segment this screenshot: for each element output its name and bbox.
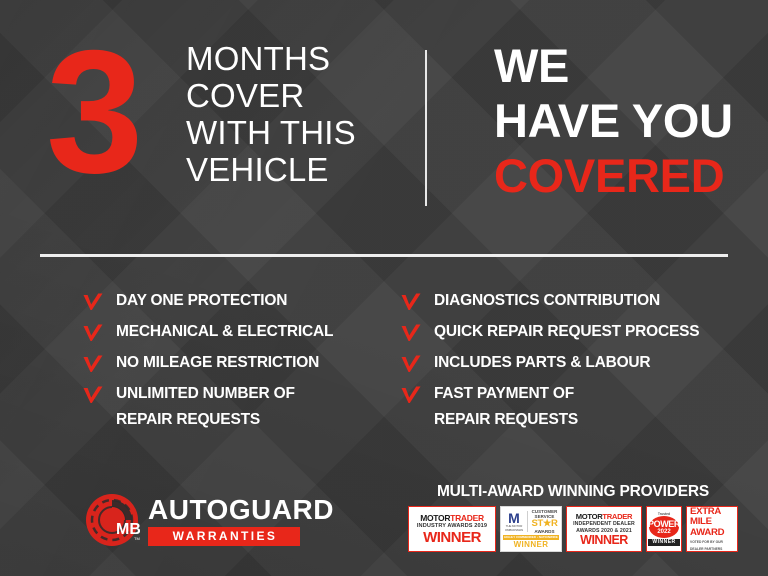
award-badge-motortrader-2019: MOTORTRADER INDUSTRY AWARDS 2019 WINNER xyxy=(408,506,496,552)
award-badge-customer-service-star: M THE MOTOR OMBUDSMAN CUSTOMER SERVICE S… xyxy=(500,506,562,552)
badge-result: WINNER xyxy=(570,534,638,547)
mbi-logo-icon: MBi TM xyxy=(84,492,140,548)
check-icon xyxy=(400,290,422,316)
svg-text:TM: TM xyxy=(134,536,140,541)
section-horizontal-divider xyxy=(40,254,728,257)
badge-brand-motor: MOTOR xyxy=(420,513,450,523)
months-cover-heading: MONTHS COVER WITH THIS VEHICLE xyxy=(186,40,416,188)
check-icon xyxy=(400,352,422,378)
check-icon xyxy=(82,290,104,316)
badge-brand: MOTORTRADER xyxy=(412,514,492,523)
months-heading-line-3: WITH THIS xyxy=(186,114,416,151)
feature-item: DIAGNOSTICS CONTRIBUTION xyxy=(400,288,740,316)
check-icon xyxy=(82,352,104,378)
award-badge-power-2022: Trusted POWER 2022 WINNER xyxy=(646,506,682,552)
tagline-heading: WE HAVE YOU COVERED xyxy=(494,38,754,203)
badge-brand-motor: MOTOR xyxy=(576,512,603,521)
feature-label: FAST PAYMENT OF REPAIR REQUESTS xyxy=(434,381,578,433)
months-heading-line-2: COVER xyxy=(186,77,416,114)
feature-item: FAST PAYMENT OF REPAIR REQUESTS xyxy=(400,381,740,433)
months-heading-line-4: VEHICLE xyxy=(186,151,416,188)
months-heading-line-1: MONTHS xyxy=(186,40,416,77)
check-icon xyxy=(82,321,104,347)
feature-item: QUICK REPAIR REQUEST PROCESS xyxy=(400,319,740,347)
badge-body: M THE MOTOR OMBUDSMAN CUSTOMER SERVICE S… xyxy=(503,509,559,535)
badge-label: POWER xyxy=(648,520,680,529)
badge-line-3: AWARD xyxy=(690,528,734,539)
badge-titles: CUSTOMER SERVICE ST★R AWARDS xyxy=(528,509,559,534)
feature-label: NO MILEAGE RESTRICTION xyxy=(116,350,319,376)
feature-label: UNLIMITED NUMBER OF REPAIR REQUESTS xyxy=(116,381,295,433)
feature-label: INCLUDES PARTS & LABOUR xyxy=(434,350,650,376)
ombudsman-mark: M xyxy=(503,511,525,525)
autoguard-wordmark: AUTOGUARD WARRANTIES xyxy=(148,495,334,546)
hero-section: 3 MONTHS COVER WITH THIS VEHICLE WE HAVE… xyxy=(0,0,768,240)
badge-brand: MOTORTRADER xyxy=(570,512,638,521)
awards-section: MULTI-AWARD WINNING PROVIDERS MOTORTRADE… xyxy=(408,482,738,552)
warranty-promo-banner: 3 MONTHS COVER WITH THIS VEHICLE WE HAVE… xyxy=(0,0,768,576)
feature-item: INCLUDES PARTS & LABOUR xyxy=(400,350,740,378)
feature-item: MECHANICAL & ELECTRICAL xyxy=(82,319,402,347)
ombudsman-caption: THE MOTOR OMBUDSMAN xyxy=(503,525,525,532)
tagline-line-3-covered: COVERED xyxy=(494,148,754,203)
badge-year: 2022 xyxy=(657,529,670,535)
feature-label: QUICK REPAIR REQUEST PROCESS xyxy=(434,319,699,345)
award-badge-motortrader-independent-dealer: MOTORTRADER INDEPENDENT DEALER AWARDS 20… xyxy=(566,506,642,552)
feature-label: DIAGNOSTICS CONTRIBUTION xyxy=(434,288,660,314)
award-badges-row: MOTORTRADER INDUSTRY AWARDS 2019 WINNER … xyxy=(408,506,738,552)
badge-subtitle-1: VOTED FOR BY OUR xyxy=(690,540,734,544)
awards-heading: MULTI-AWARD WINNING PROVIDERS xyxy=(408,482,738,502)
check-icon xyxy=(82,383,104,409)
features-column-left: DAY ONE PROTECTION MECHANICAL & ELECTRIC… xyxy=(82,288,402,436)
badge-subtitle-2: DEALER PARTNERS xyxy=(690,547,734,551)
months-count-number: 3 xyxy=(46,25,140,200)
feature-label: DAY ONE PROTECTION xyxy=(116,288,287,314)
award-badge-extra-mile: EXTRA MILE AWARD VOTED FOR BY OUR DEALER… xyxy=(686,506,738,552)
brand-name: AUTOGUARD xyxy=(148,495,334,524)
badge-emblem-icon: POWER 2022 xyxy=(649,516,679,538)
check-icon xyxy=(400,321,422,347)
hero-vertical-divider xyxy=(425,50,427,206)
badge-result: WINNER xyxy=(648,539,680,546)
badge-brand-trader: TRADER xyxy=(450,513,484,523)
badge-result: WINNER xyxy=(503,539,559,549)
feature-item: DAY ONE PROTECTION xyxy=(82,288,402,316)
brand-tagline: WARRANTIES xyxy=(148,527,300,546)
tagline-line-1: WE xyxy=(494,38,754,93)
tagline-line-2: HAVE YOU xyxy=(494,93,754,148)
feature-label: MECHANICAL & ELECTRICAL xyxy=(116,319,333,345)
feature-item: NO MILEAGE RESTRICTION xyxy=(82,350,402,378)
badge-result: WINNER xyxy=(412,530,492,545)
ombudsman-logo-icon: M THE MOTOR OMBUDSMAN xyxy=(503,511,528,532)
badge-brand-trader: TRADER xyxy=(602,512,632,521)
features-column-right: DIAGNOSTICS CONTRIBUTION QUICK REPAIR RE… xyxy=(400,288,740,436)
feature-item: UNLIMITED NUMBER OF REPAIR REQUESTS xyxy=(82,381,402,433)
check-icon xyxy=(400,383,422,409)
autoguard-logo: MBi TM AUTOGUARD WARRANTIES xyxy=(84,492,334,548)
badge-star-line: ST★R xyxy=(530,519,559,529)
